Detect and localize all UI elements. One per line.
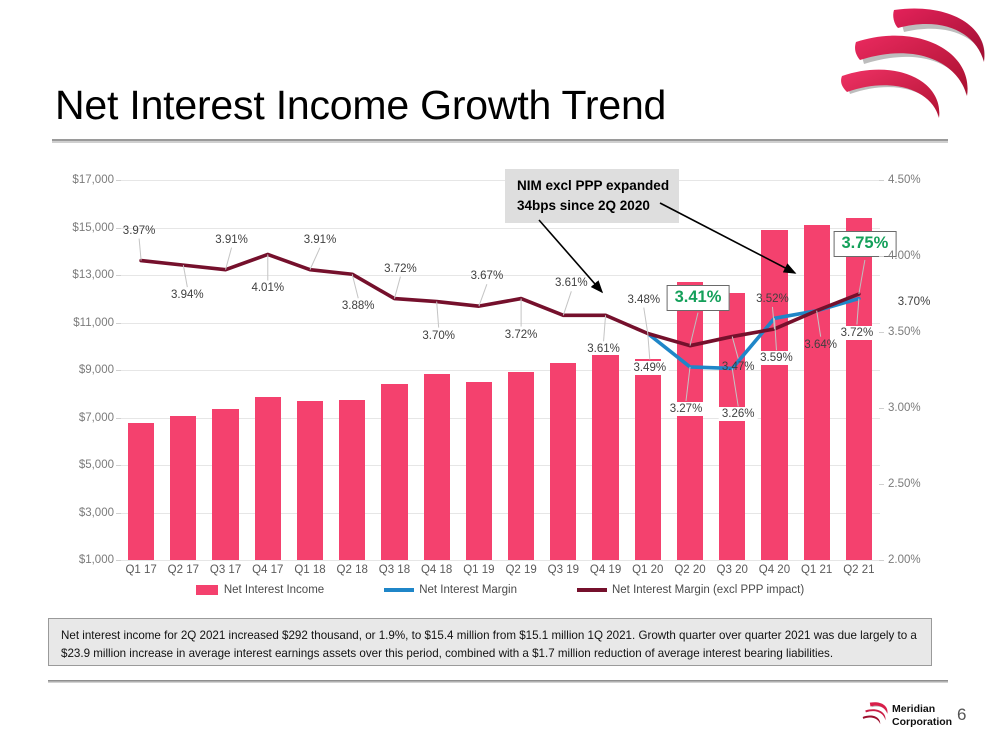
data-label-excl-ppp: 3.52% — [756, 293, 789, 305]
gridline — [120, 560, 880, 561]
legend-swatch-bar-icon — [196, 585, 218, 595]
y-axis-tick — [116, 228, 121, 229]
leader-line — [732, 368, 738, 406]
y-axis-tick — [116, 513, 121, 514]
y-axis-tick — [116, 560, 121, 561]
legend-swatch-line-icon — [384, 588, 414, 591]
chart-legend: Net Interest Income Net Interest Margin … — [50, 584, 950, 596]
legend-label: Net Interest Income — [224, 584, 324, 596]
y-axis-right-tick-label: 4.00% — [888, 250, 954, 262]
slide: Net Interest Income Growth Trend 3.97%3.… — [0, 0, 1000, 750]
y-axis-left-tick-label: $13,000 — [50, 269, 114, 281]
data-label-excl-ppp: 3.61% — [555, 277, 588, 289]
x-axis-tick-label: Q4 18 — [421, 564, 452, 576]
x-axis-tick-label: Q1 17 — [125, 564, 156, 576]
legend-item-net-interest-income: Net Interest Income — [196, 584, 324, 596]
legend-swatch-line-icon — [577, 588, 607, 591]
legend-label: Net Interest Margin (excl PPP impact) — [612, 584, 804, 596]
y-axis-right-tick-label: 3.00% — [888, 402, 954, 414]
leader-line — [139, 239, 141, 261]
y-axis-tick — [879, 560, 884, 561]
x-axis-tick-label: Q2 18 — [337, 564, 368, 576]
y-axis-left-tick-label: $9,000 — [50, 364, 114, 376]
leader-line — [479, 284, 487, 306]
x-axis-tick-label: Q2 17 — [168, 564, 199, 576]
legend-label: Net Interest Margin — [419, 584, 517, 596]
y-axis-tick — [879, 408, 884, 409]
leader-line — [686, 367, 690, 401]
meridian-footer-logo-icon — [862, 702, 888, 728]
leader-line — [644, 308, 648, 334]
x-axis-tick-label: Q3 20 — [717, 564, 748, 576]
leader-line — [394, 277, 400, 299]
leader-line — [604, 315, 606, 341]
y-axis-left-tick-label: $5,000 — [50, 459, 114, 471]
leader-line — [648, 334, 650, 360]
title-divider — [52, 139, 948, 143]
page-number: 6 — [957, 705, 966, 725]
y-axis-tick — [116, 275, 121, 276]
data-label-excl-ppp: 3.97% — [123, 225, 156, 237]
line-net-interest-margin-excl-ppp-impact- — [141, 254, 859, 345]
highlight-value-375: 3.75% — [833, 231, 896, 257]
data-label-excl-ppp: 3.48% — [627, 294, 660, 306]
data-label-excl-ppp: 3.94% — [171, 289, 204, 301]
x-axis-tick-label: Q2 19 — [505, 564, 536, 576]
y-axis-tick — [116, 180, 121, 181]
y-axis-tick — [116, 370, 121, 371]
data-label-excl-ppp: 3.67% — [471, 270, 504, 282]
data-label-excl-ppp: 3.47% — [722, 361, 755, 373]
leader-line — [437, 302, 439, 328]
x-axis-tick-label: Q3 17 — [210, 564, 241, 576]
data-label-nim: 3.26% — [719, 407, 758, 421]
y-axis-tick — [879, 180, 884, 181]
x-axis-tick-label: Q1 19 — [463, 564, 494, 576]
x-axis-tick-label: Q1 21 — [801, 564, 832, 576]
data-label-excl-ppp: 3.64% — [804, 339, 837, 351]
chart-container: 3.97%3.94%3.91%4.01%3.91%3.88%3.72%3.70%… — [50, 160, 950, 610]
data-label-nim: 3.59% — [757, 351, 796, 365]
y-axis-tick — [879, 332, 884, 333]
leader-line — [774, 318, 776, 350]
x-axis-tick-label: Q4 19 — [590, 564, 621, 576]
x-axis-tick-label: Q3 18 — [379, 564, 410, 576]
highlight-value-341: 3.41% — [667, 285, 730, 311]
y-axis-left-tick-label: $7,000 — [50, 412, 114, 424]
x-axis-tick-label: Q4 17 — [252, 564, 283, 576]
data-label-nim: 3.49% — [630, 361, 669, 375]
x-axis-tick-label: Q2 21 — [843, 564, 874, 576]
x-axis-tick-label: Q1 18 — [294, 564, 325, 576]
leader-line — [817, 311, 821, 337]
x-axis-tick-label: Q4 20 — [759, 564, 790, 576]
y-axis-tick — [116, 323, 121, 324]
data-label-excl-ppp: 3.70% — [422, 330, 455, 342]
footer-divider — [48, 680, 948, 683]
chart-plot-area: 3.97%3.94%3.91%4.01%3.91%3.88%3.72%3.70%… — [120, 180, 880, 560]
y-axis-left-tick-label: $11,000 — [50, 317, 114, 329]
annotation-callout: NIM excl PPP expanded 34bps since 2Q 202… — [505, 169, 679, 223]
leader-line — [563, 291, 571, 315]
axis-callout-label: 3.70% — [898, 296, 931, 308]
leader-line — [183, 265, 187, 287]
y-axis-right-tick-label: 4.50% — [888, 174, 954, 186]
y-axis-right-tick-label: 3.50% — [888, 326, 954, 338]
data-label-excl-ppp: 4.01% — [251, 282, 284, 294]
y-axis-tick — [116, 418, 121, 419]
data-label-excl-ppp: 3.72% — [384, 263, 417, 275]
y-axis-left-tick-label: $15,000 — [50, 222, 114, 234]
x-axis-tick-label: Q1 20 — [632, 564, 663, 576]
leader-line — [732, 337, 738, 359]
y-axis-tick — [879, 256, 884, 257]
x-axis-tick-label: Q2 20 — [674, 564, 705, 576]
footer-brand-name: Meridian Corporation — [892, 703, 952, 729]
data-label-nim: 3.72% — [838, 326, 877, 340]
data-label-excl-ppp: 3.72% — [505, 329, 538, 341]
data-label-nim: 3.27% — [667, 402, 706, 416]
data-label-excl-ppp: 3.91% — [215, 234, 248, 246]
y-axis-tick — [879, 484, 884, 485]
page-title: Net Interest Income Growth Trend — [55, 82, 666, 129]
meridian-globe-logo-icon — [838, 2, 996, 130]
y-axis-right-tick-label: 2.50% — [888, 478, 954, 490]
leader-line — [857, 299, 859, 325]
y-axis-left-tick-label: $1,000 — [50, 554, 114, 566]
data-label-excl-ppp: 3.91% — [304, 234, 337, 246]
y-axis-left-tick-label: $3,000 — [50, 507, 114, 519]
legend-item-nim-excl-ppp: Net Interest Margin (excl PPP impact) — [577, 584, 804, 596]
legend-item-net-interest-margin: Net Interest Margin — [384, 584, 517, 596]
y-axis-left-tick-label: $17,000 — [50, 174, 114, 186]
data-label-excl-ppp: 3.61% — [587, 343, 620, 355]
footnote-box: Net interest income for 2Q 2021 increase… — [48, 618, 932, 666]
y-axis-right-tick-label: 2.00% — [888, 554, 954, 566]
data-label-excl-ppp: 3.88% — [342, 300, 375, 312]
y-axis-tick — [116, 465, 121, 466]
x-axis-tick-label: Q3 19 — [548, 564, 579, 576]
leader-line — [310, 248, 320, 270]
